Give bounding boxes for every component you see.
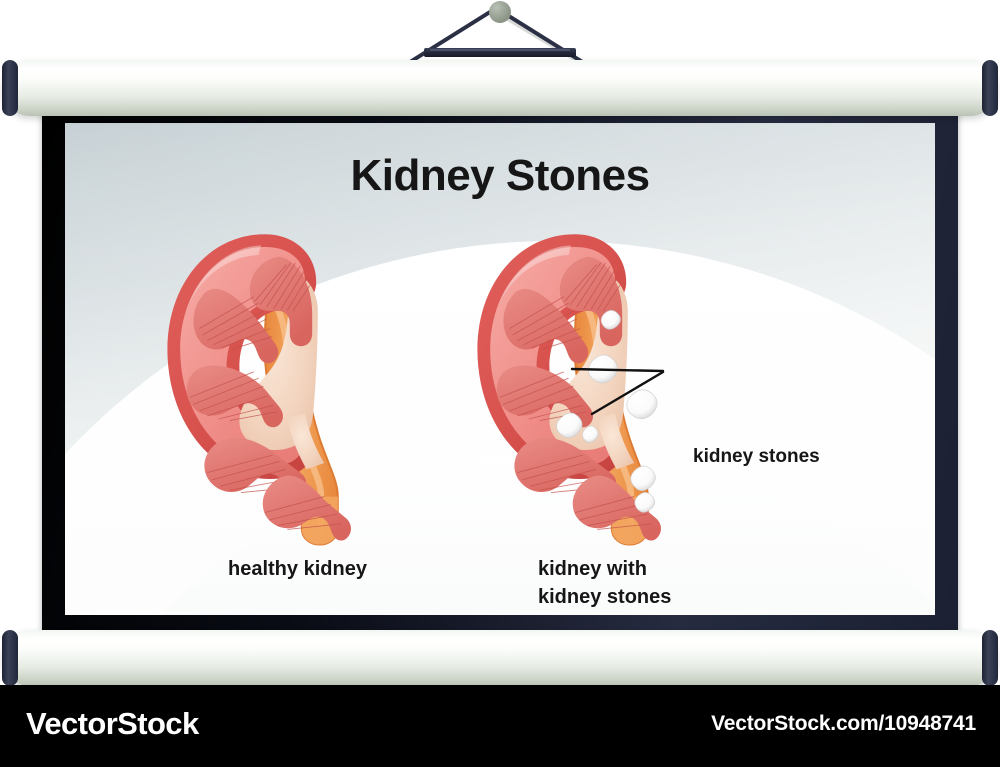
roller-highlight — [24, 67, 976, 79]
projector-screen-canvas: Kidney Stones healthy kidney kidney with… — [65, 123, 935, 615]
roller-cap-left — [2, 60, 18, 116]
roller-cap-right — [982, 630, 998, 686]
roller-cap-left — [2, 630, 18, 686]
vectorstock-logo: VectorStock — [26, 706, 199, 742]
screen-roller-bottom[interactable] — [2, 630, 998, 686]
vectorstock-url: VectorStock.com/10948741 — [711, 712, 976, 736]
caption-line-2: kidney stones — [538, 583, 671, 611]
diagram-area: Kidney Stones healthy kidney kidney with… — [65, 123, 935, 615]
annotation-kidney-stones: kidney stones — [693, 446, 820, 468]
mount-bar-highlight — [430, 49, 570, 51]
roller-highlight — [24, 637, 976, 649]
healthy-kidney-illustration — [167, 234, 351, 544]
caption-kidney-with-stones: kidney with kidney stones — [538, 555, 671, 611]
projector-screen-frame: Kidney Stones healthy kidney kidney with… — [42, 103, 958, 631]
roller-cap-right — [982, 60, 998, 116]
mount-knob-icon — [489, 1, 511, 23]
poster-stage: Kidney Stones healthy kidney kidney with… — [0, 0, 1000, 767]
page-title: Kidney Stones — [65, 151, 935, 201]
caption-healthy-kidney: healthy kidney — [228, 555, 367, 583]
caption-line-1: kidney with — [538, 555, 671, 583]
screen-roller-top — [2, 60, 998, 116]
